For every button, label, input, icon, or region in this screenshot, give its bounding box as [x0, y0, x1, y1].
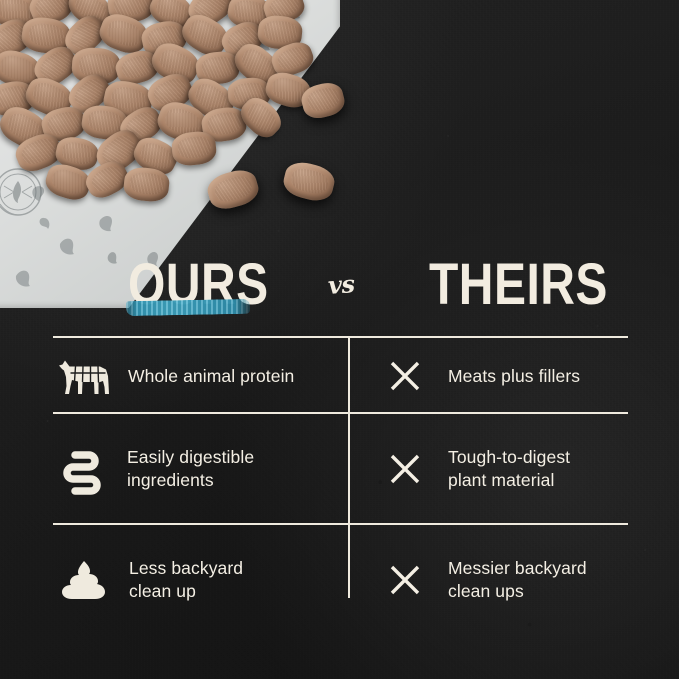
- table-cell-text: Whole animal protein: [128, 365, 294, 388]
- table-cell-text: Tough-to-digest plant material: [448, 446, 570, 492]
- table-cell-text: Less backyard clean up: [129, 557, 243, 603]
- x-mark-icon: [388, 359, 422, 393]
- table-cell-text: Messier backyard clean ups: [448, 557, 587, 603]
- x-mark-icon: [388, 452, 422, 486]
- table-column-divider: [348, 338, 350, 598]
- table-row: Whole animal protein: [53, 344, 343, 408]
- table-row: Tough-to-digest plant material: [358, 420, 658, 518]
- comparison-table: Whole animal protein Meats plus fillers …: [0, 0, 679, 679]
- poop-icon: [61, 560, 107, 600]
- table-row: Meats plus fillers: [358, 344, 658, 408]
- table-divider-row2: [53, 523, 628, 525]
- x-mark-icon: [388, 563, 422, 597]
- intestine-icon: [61, 448, 105, 490]
- table-divider-row1: [53, 412, 628, 414]
- table-cell-text: Meats plus fillers: [448, 365, 580, 388]
- table-row: Messier backyard clean ups: [358, 531, 658, 629]
- table-row: Less backyard clean up: [53, 531, 343, 629]
- infographic-canvas: OURS vs THEIRS: [0, 0, 679, 679]
- table-cell-text: Easily digestible ingredients: [127, 446, 254, 492]
- cow-butcher-cuts-icon: [56, 356, 112, 396]
- table-divider-top: [53, 336, 628, 338]
- table-row: Easily digestible ingredients: [53, 420, 343, 518]
